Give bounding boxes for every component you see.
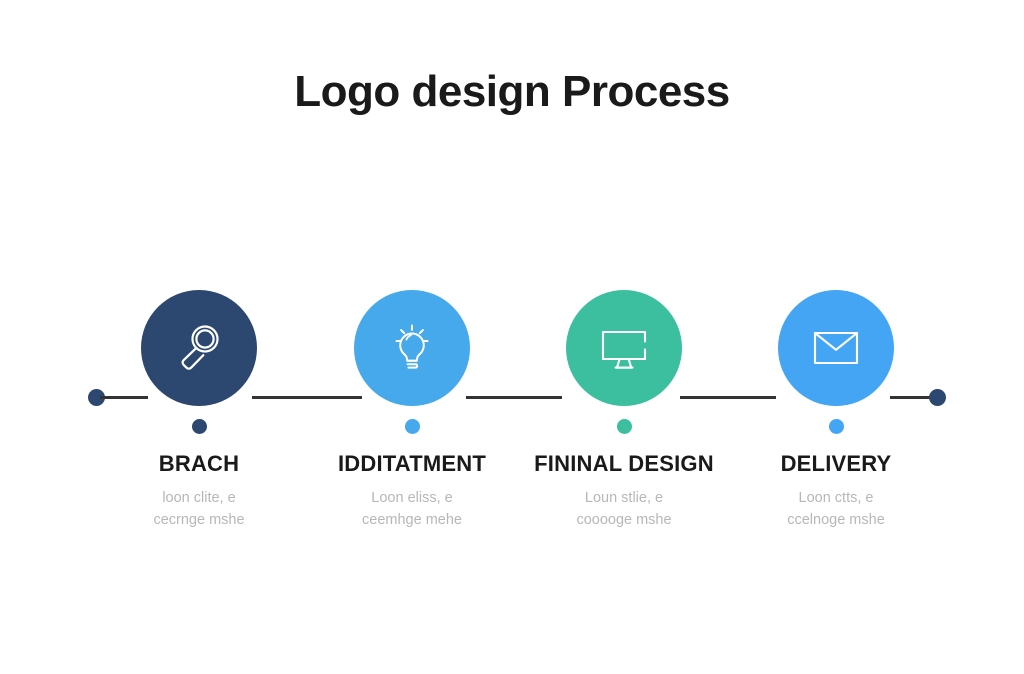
step-node-dot-3: [617, 419, 632, 434]
envelope-icon: [807, 322, 865, 374]
step-title-3: FININAL DESIGN: [517, 451, 731, 477]
step-description-1-line1: loon clite, e: [92, 487, 306, 509]
step-icon-circle-1[interactable]: [141, 290, 257, 406]
process-step-2[interactable]: IDDITATMENT Loon eliss, e ceemhge mehe: [305, 290, 519, 532]
step-title-2: IDDITATMENT: [305, 451, 519, 477]
process-step-1[interactable]: BRACH loon clite, e cecrnge mshe: [92, 290, 306, 532]
step-description-4-line1: Loon ctts, e: [729, 487, 943, 509]
step-description-3: Loun stlie, e cooooge mshe: [517, 487, 731, 532]
step-node-dot-1: [192, 419, 207, 434]
step-description-4-line2: ccelnoge mshe: [729, 509, 943, 531]
step-description-1: loon clite, e cecrnge mshe: [92, 487, 306, 532]
step-description-4: Loon ctts, e ccelnoge mshe: [729, 487, 943, 532]
step-description-3-line1: Loun stlie, e: [517, 487, 731, 509]
step-title-4: DELIVERY: [729, 451, 943, 477]
lightbulb-icon: [383, 319, 441, 377]
step-icon-circle-4[interactable]: [778, 290, 894, 406]
step-icon-circle-2[interactable]: [354, 290, 470, 406]
magnifier-icon: [169, 318, 229, 378]
step-description-3-line2: cooooge mshe: [517, 509, 731, 531]
monitor-icon: [593, 319, 655, 377]
process-step-4[interactable]: DELIVERY Loon ctts, e ccelnoge mshe: [729, 290, 943, 532]
step-node-dot-2: [405, 419, 420, 434]
process-steps: BRACH loon clite, e cecrnge mshe: [0, 0, 1024, 674]
step-title-1: BRACH: [92, 451, 306, 477]
step-description-2-line1: Loon eliss, e: [305, 487, 519, 509]
step-icon-circle-3[interactable]: [566, 290, 682, 406]
process-infographic: Logo design Process BRACH: [0, 0, 1024, 674]
step-description-1-line2: cecrnge mshe: [92, 509, 306, 531]
step-node-dot-4: [829, 419, 844, 434]
step-description-2: Loon eliss, e ceemhge mehe: [305, 487, 519, 532]
step-description-2-line2: ceemhge mehe: [305, 509, 519, 531]
process-step-3[interactable]: FININAL DESIGN Loun stlie, e cooooge msh…: [517, 290, 731, 532]
